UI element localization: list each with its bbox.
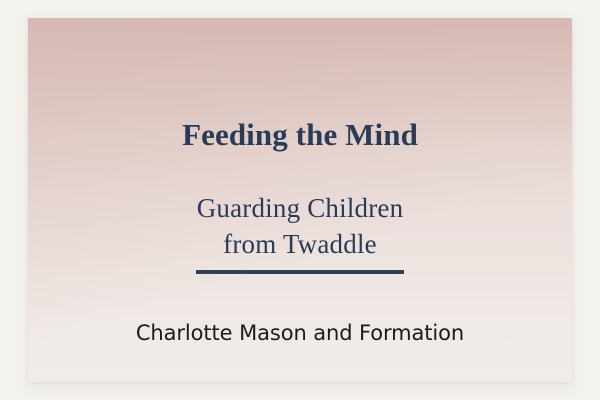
slide-subtitle: Guarding Children from Twaddle <box>28 191 572 262</box>
slide-subtitle-line-2: from Twaddle <box>28 227 572 263</box>
slide-content: Feeding the Mind Guarding Children from … <box>28 18 572 382</box>
presentation-slide-card: Feeding the Mind Guarding Children from … <box>28 18 572 382</box>
slide-subtitle-line-1: Guarding Children <box>28 191 572 227</box>
slide-divider-rule <box>196 270 404 274</box>
slide-title: Feeding the Mind <box>28 118 572 152</box>
slide-footer-text: Charlotte Mason and Formation <box>28 321 572 346</box>
slide-stage: Feeding the Mind Guarding Children from … <box>0 0 600 400</box>
